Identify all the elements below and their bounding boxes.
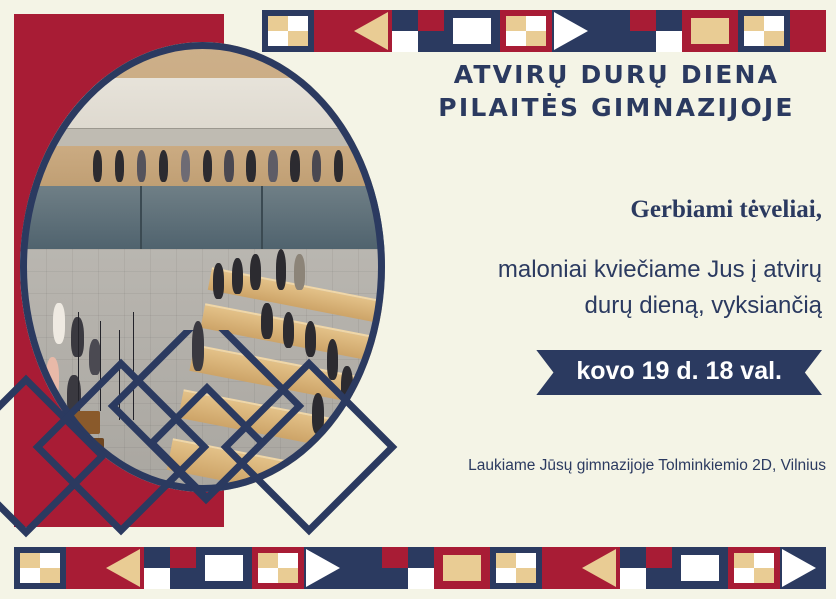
photo-person xyxy=(246,150,255,182)
photo-instrument xyxy=(57,438,104,456)
photo-person xyxy=(250,254,261,290)
invitation-line-1: maloniai kviečiame Jus į atvirų xyxy=(385,252,822,288)
invitation-body: maloniai kviečiame Jus į atvirų durų die… xyxy=(385,252,830,324)
date-banner-row: kovo 19 d. 18 val. xyxy=(385,350,830,395)
photo-person xyxy=(312,150,321,182)
photo-person xyxy=(268,150,277,182)
photo-person xyxy=(224,150,233,182)
motif-square-white xyxy=(196,547,252,589)
footer-address: Laukiame Jūsų gimnazijoje Tolminkiemio 2… xyxy=(385,457,830,475)
invitation-line-2: durų dieną, vyksiančią xyxy=(385,288,822,324)
photo-person xyxy=(334,150,343,182)
photo-glass-wall xyxy=(20,186,385,249)
motif-square-white xyxy=(444,10,500,52)
page-title: ATVIRŲ DURŲ DIENA PILAITĖS GIMNAZIJOJE xyxy=(385,58,830,124)
motif-triangle-right xyxy=(304,547,382,589)
motif-triangle-left xyxy=(314,10,392,52)
motif-checker-navy-frame xyxy=(262,10,314,52)
motif-square-tan xyxy=(682,10,738,52)
photo-person xyxy=(276,249,287,290)
photo-music-stand xyxy=(64,56,65,92)
photo-person xyxy=(115,150,124,182)
photo-music-stand xyxy=(100,321,101,411)
photo-musician xyxy=(46,357,59,398)
motif-checker-navy-frame xyxy=(738,10,790,52)
photo-person xyxy=(93,150,102,182)
motif-triangle-left xyxy=(542,547,620,589)
motif-checker-red-frame xyxy=(728,547,780,589)
photo-person xyxy=(294,254,305,290)
motif-stripe-block xyxy=(392,10,444,52)
motif-triangle-right xyxy=(780,547,826,589)
date-banner: kovo 19 d. 18 val. xyxy=(536,350,822,395)
photo-person xyxy=(290,150,299,182)
photo-balcony-rail xyxy=(20,128,385,146)
photo-musician xyxy=(89,339,101,375)
photo-person xyxy=(137,150,146,182)
photo-person xyxy=(261,303,273,339)
ornament-strip-bottom xyxy=(14,547,826,589)
ornament-strip-top xyxy=(262,10,826,52)
motif-checker-red-frame xyxy=(500,10,552,52)
motif-stripe-block xyxy=(620,547,672,589)
motif-stripe-block xyxy=(144,547,196,589)
photo-music-stand xyxy=(119,330,120,420)
content-column: ATVIRŲ DURŲ DIENA PILAITĖS GIMNAZIJOJE G… xyxy=(385,58,830,475)
photo-person xyxy=(283,312,295,348)
photo-person xyxy=(192,321,204,371)
motif-checker-red-frame xyxy=(252,547,304,589)
photo-person xyxy=(341,366,353,407)
photo-person xyxy=(181,150,190,182)
motif-triangle-right xyxy=(552,10,630,52)
motif-stripe-block xyxy=(630,10,682,52)
motif-checker-navy-frame xyxy=(14,547,66,589)
photo-upper-wall xyxy=(20,78,385,128)
photo-person xyxy=(327,339,339,380)
salutation-text: Gerbiami tėveliai, xyxy=(385,196,830,224)
atrium-photo xyxy=(20,42,385,492)
photo-musician xyxy=(71,317,83,358)
photo-music-stand xyxy=(133,312,134,420)
photo-instrument xyxy=(42,411,100,434)
photo-image xyxy=(20,42,385,492)
photo-person xyxy=(213,263,224,299)
photo-person xyxy=(203,150,212,182)
photo-musician xyxy=(53,303,65,344)
motif-square-white xyxy=(672,547,728,589)
motif-square-tan xyxy=(434,547,490,589)
photo-person xyxy=(232,258,243,294)
photo-person xyxy=(312,393,324,434)
photo-person xyxy=(159,150,168,182)
motif-checker-navy-frame xyxy=(490,547,542,589)
motif-stripe-block xyxy=(382,547,434,589)
photo-person xyxy=(305,321,317,357)
motif-triangle-left xyxy=(790,10,826,52)
motif-triangle-left xyxy=(66,547,144,589)
photo-music-stand xyxy=(78,312,79,411)
photo-person xyxy=(334,420,346,461)
poster-canvas: ATVIRŲ DURŲ DIENA PILAITĖS GIMNAZIJOJE G… xyxy=(0,0,836,599)
